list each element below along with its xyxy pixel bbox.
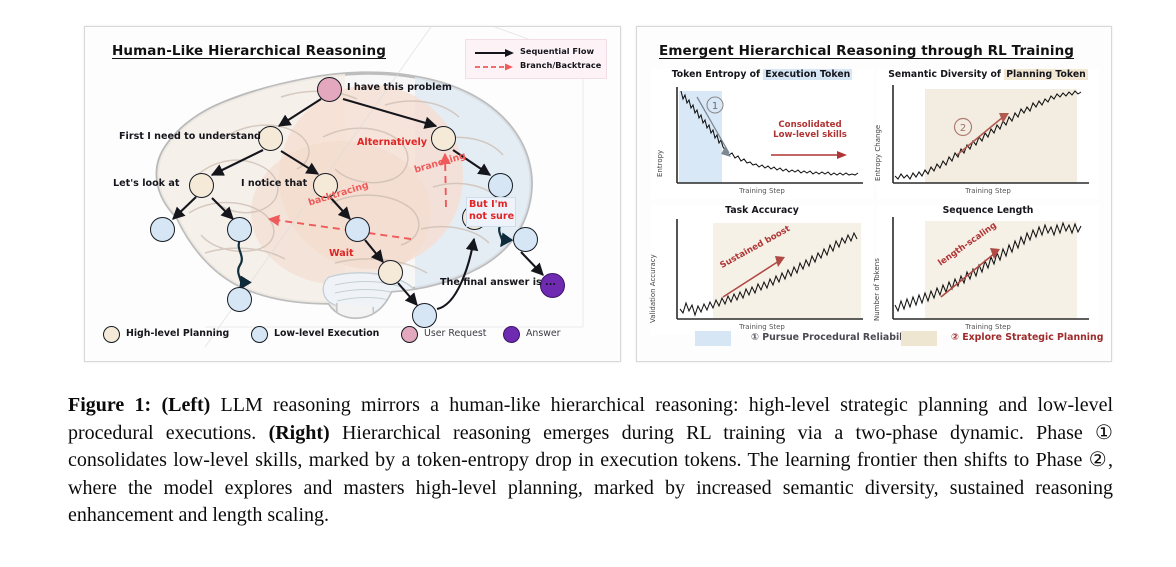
node-plan-understand[interactable] <box>258 126 283 151</box>
figure-caption: Figure 1: (Left) LLM reasoning mirrors a… <box>68 392 1113 530</box>
annotation-i-notice-that: I notice that <box>241 178 307 189</box>
annotation-i-have-this-problem: I have this problem <box>347 82 452 93</box>
legend-sequential-flow-label: Sequential Flow <box>520 46 594 56</box>
chart1-annotation-line1: Consolidated <box>778 120 841 130</box>
annotation-first-i-need-to-understand: First I need to understand <box>119 131 261 142</box>
svg-text:1: 1 <box>712 101 718 112</box>
left-panel: Human-Like Hierarchical Reasoning Sequen… <box>84 26 621 362</box>
node-user-request[interactable] <box>317 77 342 102</box>
svg-text:2: 2 <box>960 123 966 134</box>
phase2-label: Explore Strategic Planning <box>962 332 1103 343</box>
phase1-label: Pursue Procedural Reliability <box>762 332 916 343</box>
phase2-swatch <box>901 331 937 346</box>
left-panel-title: Human-Like Hierarchical Reasoning <box>112 43 386 59</box>
chart-semantic-diversity: Semantic Diversity of Planning Token Ent… <box>877 69 1099 199</box>
phase1-legend-label: ① Pursue Procedural Reliability <box>751 332 916 343</box>
caption-left-tag: (Left) <box>161 394 210 416</box>
node-exec-leaf-1[interactable] <box>150 217 175 242</box>
flow-legend-box: Sequential Flow Branch/Backtrace <box>465 39 607 79</box>
chart-sequence-length: Sequence Length Number of Tokens Trainin… <box>877 205 1099 335</box>
node-exec-leaf-2[interactable] <box>227 217 252 242</box>
chart1-annotation-line2: Low-level skills <box>773 130 847 140</box>
phase2-legend-label: ② Explore Strategic Planning <box>951 332 1103 343</box>
annotation-lets-look-at: Let's look at <box>113 178 179 189</box>
legend-swatch-execution <box>251 326 268 343</box>
node-exec-branch[interactable] <box>488 173 513 198</box>
annotation-but-im: But I'm <box>469 199 508 210</box>
phase-legend: ① Pursue Procedural Reliability ② Explor… <box>651 329 1097 351</box>
annotation-branching: branching <box>413 150 467 175</box>
node-plan-alternatively[interactable] <box>431 126 456 151</box>
legend-label-execution: Low-level Execution <box>274 328 379 339</box>
chart-task-accuracy: Task Accuracy Validation Accuracy Traini… <box>651 205 873 335</box>
legend-label-user-request: User Request <box>424 328 486 339</box>
legend-label-answer: Answer <box>526 328 561 339</box>
annotation-alternatively: Alternatively <box>357 137 427 148</box>
chart-token-entropy: Token Entropy of Execution Token Entropy… <box>651 69 873 199</box>
right-panel: Emergent Hierarchical Reasoning through … <box>636 26 1112 362</box>
caption-figure-label: Figure 1: <box>68 394 151 416</box>
figure-area: Human-Like Hierarchical Reasoning Sequen… <box>0 0 1176 378</box>
dashed-arrow-icon <box>474 61 516 73</box>
caption-right-tag: (Right) <box>269 422 330 444</box>
node-plan-look-at[interactable] <box>189 173 214 198</box>
legend-swatch-answer <box>503 326 520 343</box>
phase1-swatch <box>695 331 731 346</box>
legend-label-planning: High-level Planning <box>126 328 229 339</box>
annotation-wait: Wait <box>329 248 354 259</box>
right-panel-title: Emergent Hierarchical Reasoning through … <box>659 43 1074 59</box>
node-exec-middle[interactable] <box>345 217 370 242</box>
legend-swatch-planning <box>103 326 120 343</box>
node-plan-wait[interactable] <box>378 260 403 285</box>
annotation-final-answer: The final answer is ... <box>440 277 556 288</box>
legend-swatch-user-request <box>401 326 418 343</box>
node-exec-final[interactable] <box>513 227 538 252</box>
node-type-legend: High-level Planning Low-level Execution … <box>103 323 603 349</box>
chart1-annotation: Consolidated Low-level skills <box>768 121 852 141</box>
solid-arrow-icon <box>474 47 516 59</box>
annotation-not-sure: not sure <box>469 211 514 222</box>
legend-branch-backtrace-label: Branch/Backtrace <box>520 60 601 70</box>
phase2-marker: ② <box>951 332 959 343</box>
phase1-marker: ① <box>751 332 759 343</box>
node-exec-leaf-3[interactable] <box>227 287 252 312</box>
figure-page: Human-Like Hierarchical Reasoning Sequen… <box>0 0 1176 567</box>
